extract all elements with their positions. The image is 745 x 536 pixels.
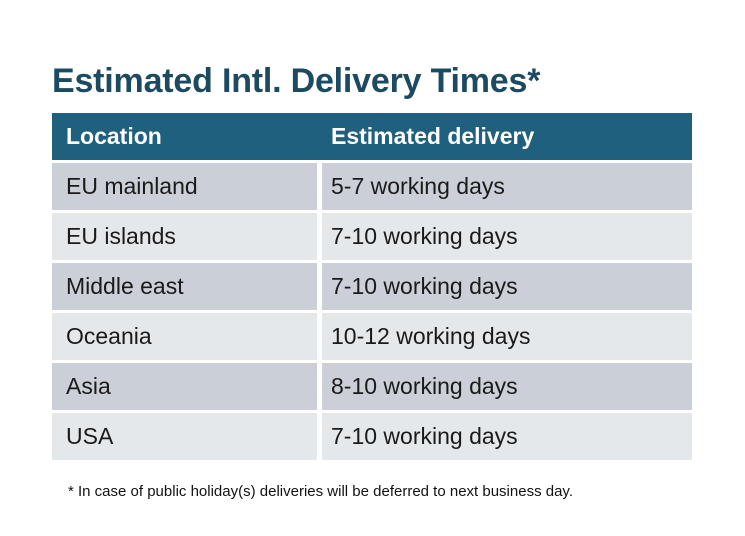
cell-location-text: Asia <box>52 363 317 410</box>
cell-delivery: 10-12 working days <box>322 313 692 360</box>
cell-location: Oceania <box>52 313 317 360</box>
footnote: * In case of public holiday(s) deliverie… <box>68 481 573 503</box>
cell-location-text: Oceania <box>52 313 317 360</box>
table-row: Asia 8-10 working days <box>52 363 692 410</box>
cell-location: Asia <box>52 363 317 410</box>
cell-delivery-text: 7-10 working days <box>322 213 692 260</box>
page-title: Estimated Intl. Delivery Times* <box>52 59 540 103</box>
delivery-times-page: Estimated Intl. Delivery Times* Location… <box>0 0 745 536</box>
cell-delivery: 7-10 working days <box>322 263 692 310</box>
table-row: Middle east 7-10 working days <box>52 263 692 310</box>
column-header-location-label: Location <box>52 113 317 160</box>
cell-delivery-text: 8-10 working days <box>322 363 692 410</box>
cell-location: EU islands <box>52 213 317 260</box>
cell-location-text: USA <box>52 413 317 460</box>
cell-location: USA <box>52 413 317 460</box>
cell-location: EU mainland <box>52 163 317 210</box>
cell-delivery: 7-10 working days <box>322 213 692 260</box>
cell-location-text: EU islands <box>52 213 317 260</box>
table-row: EU islands 7-10 working days <box>52 213 692 260</box>
table-header: Location Estimated delivery <box>52 113 692 160</box>
delivery-times-table: Location Estimated delivery EU mainland <box>52 113 692 460</box>
table-body: EU mainland 5-7 working days EU islands … <box>52 160 692 460</box>
cell-delivery-text: 5-7 working days <box>322 163 692 210</box>
cell-delivery-text: 7-10 working days <box>322 263 692 310</box>
table-row: USA 7-10 working days <box>52 413 692 460</box>
cell-location: Middle east <box>52 263 317 310</box>
cell-delivery: 5-7 working days <box>322 163 692 210</box>
column-header-delivery-label: Estimated delivery <box>322 113 692 160</box>
table-header-row: Location Estimated delivery <box>52 113 692 160</box>
cell-delivery: 8-10 working days <box>322 363 692 410</box>
cell-location-text: Middle east <box>52 263 317 310</box>
column-header-location: Location <box>52 113 317 160</box>
table-row: Oceania 10-12 working days <box>52 313 692 360</box>
column-header-delivery: Estimated delivery <box>322 113 692 160</box>
table-row: EU mainland 5-7 working days <box>52 163 692 210</box>
cell-location-text: EU mainland <box>52 163 317 210</box>
cell-delivery-text: 7-10 working days <box>322 413 692 460</box>
cell-delivery: 7-10 working days <box>322 413 692 460</box>
cell-delivery-text: 10-12 working days <box>322 313 692 360</box>
